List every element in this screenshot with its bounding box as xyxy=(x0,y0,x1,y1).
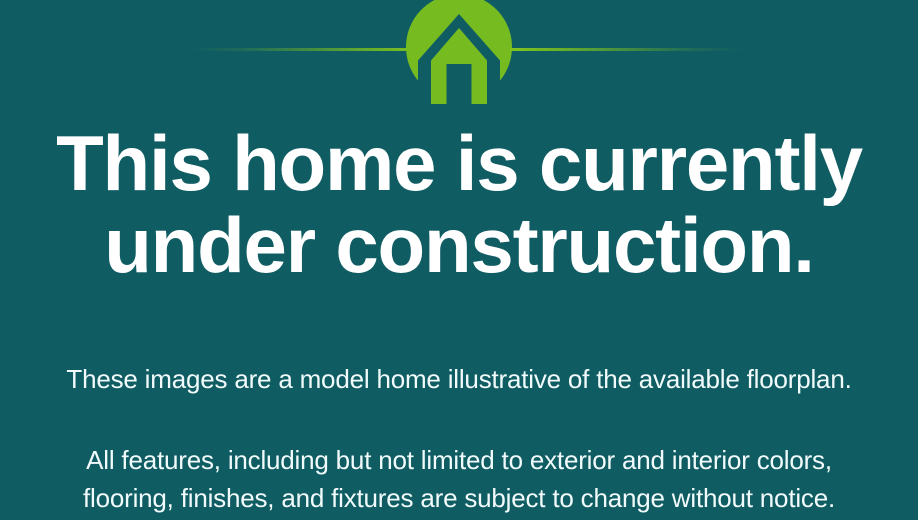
disclaimer-features-text: All features, including but not limited … xyxy=(0,441,918,517)
logo-divider-row xyxy=(0,0,918,105)
divider-rule-right-icon xyxy=(510,48,745,51)
page-title: This home is currently under constructio… xyxy=(0,122,918,286)
disclaimer-images-text: These images are a model home illustrati… xyxy=(0,360,918,398)
home-arrow-logo-icon xyxy=(404,0,514,104)
under-construction-banner: This home is currently under constructio… xyxy=(0,0,918,520)
divider-rule-left-icon xyxy=(190,48,425,51)
